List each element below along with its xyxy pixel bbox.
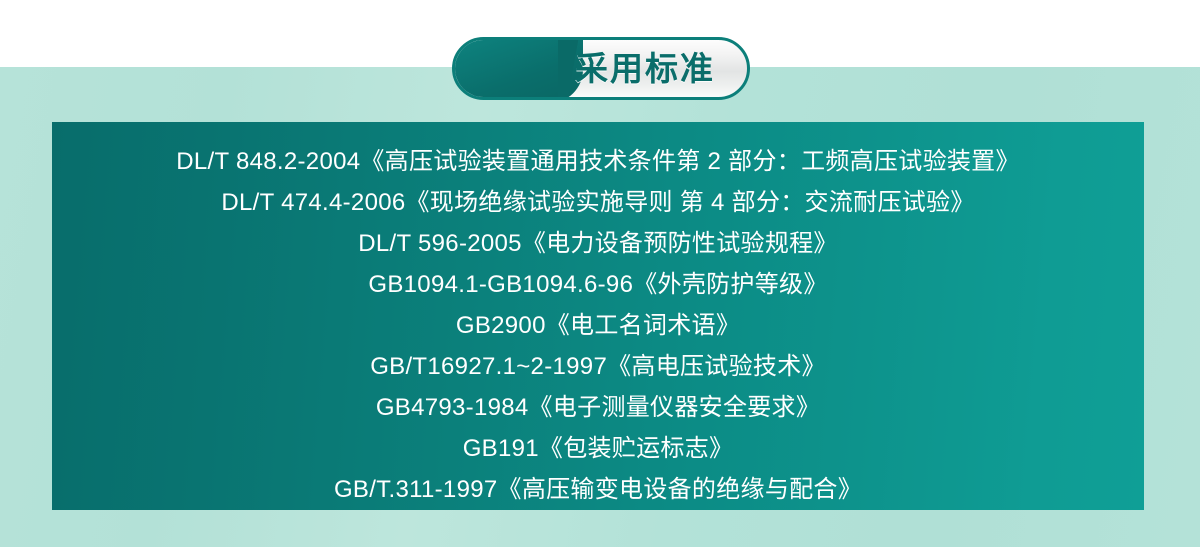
- standards-panel: DL/T 848.2-2004《高压试验装置通用技术条件第 2 部分：工频高压试…: [52, 122, 1144, 510]
- list-item: GB/T16927.1~2-1997《高电压试验技术》: [52, 346, 1144, 387]
- list-item: GB1094.1-GB1094.6-96《外壳防护等级》: [52, 264, 1144, 305]
- list-item: GB191《包装贮运标志》: [52, 428, 1144, 469]
- list-item: GB2900《电工名词术语》: [52, 305, 1144, 346]
- list-item: DL/T 474.4-2006《现场绝缘试验实施导则 第 4 部分：交流耐压试验…: [52, 182, 1144, 223]
- list-item: DL/T 848.2-2004《高压试验装置通用技术条件第 2 部分：工频高压试…: [52, 141, 1144, 182]
- standards-list: DL/T 848.2-2004《高压试验装置通用技术条件第 2 部分：工频高压试…: [52, 141, 1144, 510]
- list-item: DL/T 596-2005《电力设备预防性试验规程》: [52, 223, 1144, 264]
- section-title-text: 采用标准: [543, 40, 747, 97]
- section-title-badge: 采用标准: [452, 37, 750, 100]
- poster-canvas: 采用标准 DL/T 848.2-2004《高压试验装置通用技术条件第 2 部分：…: [0, 0, 1200, 555]
- list-item: GB/T.311-1997《高压输变电设备的绝缘与配合》: [52, 469, 1144, 510]
- list-item: GB4793-1984《电子测量仪器安全要求》: [52, 387, 1144, 428]
